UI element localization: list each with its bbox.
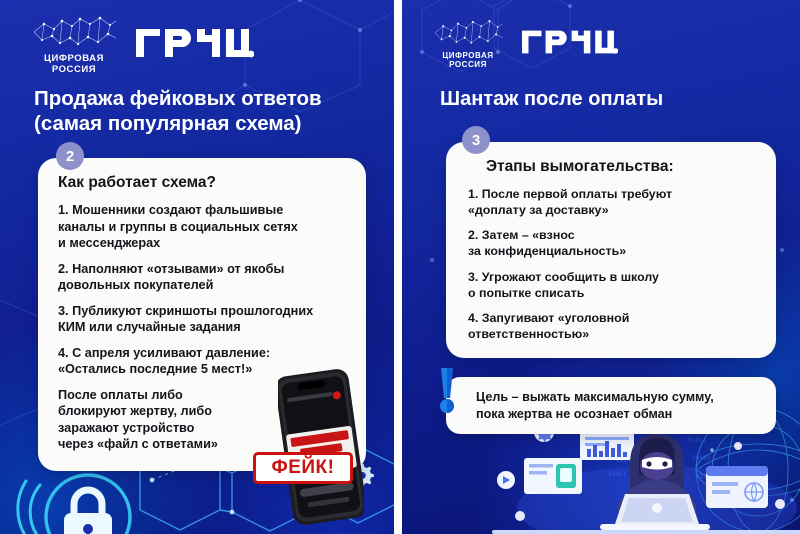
- grchc-wordmark: [136, 25, 254, 61]
- exclamation-mark-icon: [434, 366, 460, 414]
- digital-russia-logo-text: ЦИФРОВАЯ РОССИЯ: [442, 52, 493, 70]
- step-badge-2: 2: [56, 142, 84, 170]
- panel-left: ЦИФРОВАЯ РОССИЯ Продажа фейковых ответов…: [0, 0, 394, 534]
- list-item: 3. Публикуют скриншоты прошлогодних КИМ …: [58, 303, 346, 336]
- credit-card-icon: [706, 466, 768, 508]
- step-badge-3: 3: [462, 126, 490, 154]
- svg-text:01011: 01011: [688, 437, 706, 444]
- logo-line-2: РОССИЯ: [442, 61, 493, 70]
- phone-with-red-ad-icon: [278, 368, 364, 528]
- panel-left-title: Продажа фейковых ответов (самая популярн…: [34, 87, 374, 136]
- panel-right-card: Этапы вымогательства: 1. После первой оп…: [446, 142, 776, 358]
- logo-line-2: РОССИЯ: [44, 65, 104, 76]
- laptop-window-icon: [524, 458, 582, 494]
- goal-callout-text: Цель – выжать максимальную сумму, пока ж…: [476, 389, 760, 422]
- panel-right-title: Шантаж после оплаты: [440, 87, 770, 111]
- goal-callout: Цель – выжать максимальную сумму, пока ж…: [446, 377, 776, 434]
- list-item: 2. Наполняют «отзывами» от якобы довольн…: [58, 261, 346, 294]
- list-item: 2. Затем – «взнос за конфиденциальность»: [468, 227, 756, 259]
- digital-russia-logo: ЦИФРОВАЯ РОССИЯ: [428, 14, 508, 70]
- fake-stamp: ФЕЙК!: [253, 452, 353, 484]
- digital-russia-logo-text: ЦИФРОВАЯ РОССИЯ: [44, 54, 104, 75]
- list-item: 1. После первой оплаты требуют «доплату …: [468, 186, 756, 218]
- svg-text:10010: 10010: [692, 455, 710, 462]
- card-heading-left: Как работает схема?: [58, 174, 346, 192]
- panel-right-header: ЦИФРОВАЯ РОССИЯ: [402, 0, 800, 70]
- card-heading-right: Этапы вымогательства:: [468, 158, 756, 176]
- svg-text:11001: 11001: [608, 471, 626, 478]
- grchc-wordmark-glyphs: [522, 27, 618, 57]
- fake-stamp-label: ФЕЙК!: [272, 457, 335, 479]
- grchc-wordmark: [522, 27, 618, 57]
- panel-divider: [394, 0, 402, 534]
- russia-map-network-icon: [430, 14, 506, 50]
- card-bullets-right: 1. После первой оплаты требуют «доплату …: [468, 186, 756, 342]
- russia-map-network-icon: [28, 10, 120, 52]
- panel-left-header: ЦИФРОВАЯ РОССИЯ: [0, 0, 394, 75]
- list-item: 4. Запугивают «уголовной ответственность…: [468, 310, 756, 342]
- list-item: 1. Мошенники создают фальшивые каналы и …: [58, 202, 346, 252]
- digital-russia-logo: ЦИФРОВАЯ РОССИЯ: [26, 10, 122, 75]
- infographic-stage: ЦИФРОВАЯ РОССИЯ Продажа фейковых ответов…: [0, 0, 800, 534]
- grchc-wordmark-glyphs: [136, 25, 254, 61]
- list-item: 3. Угрожают сообщить в школу о попытке с…: [468, 269, 756, 301]
